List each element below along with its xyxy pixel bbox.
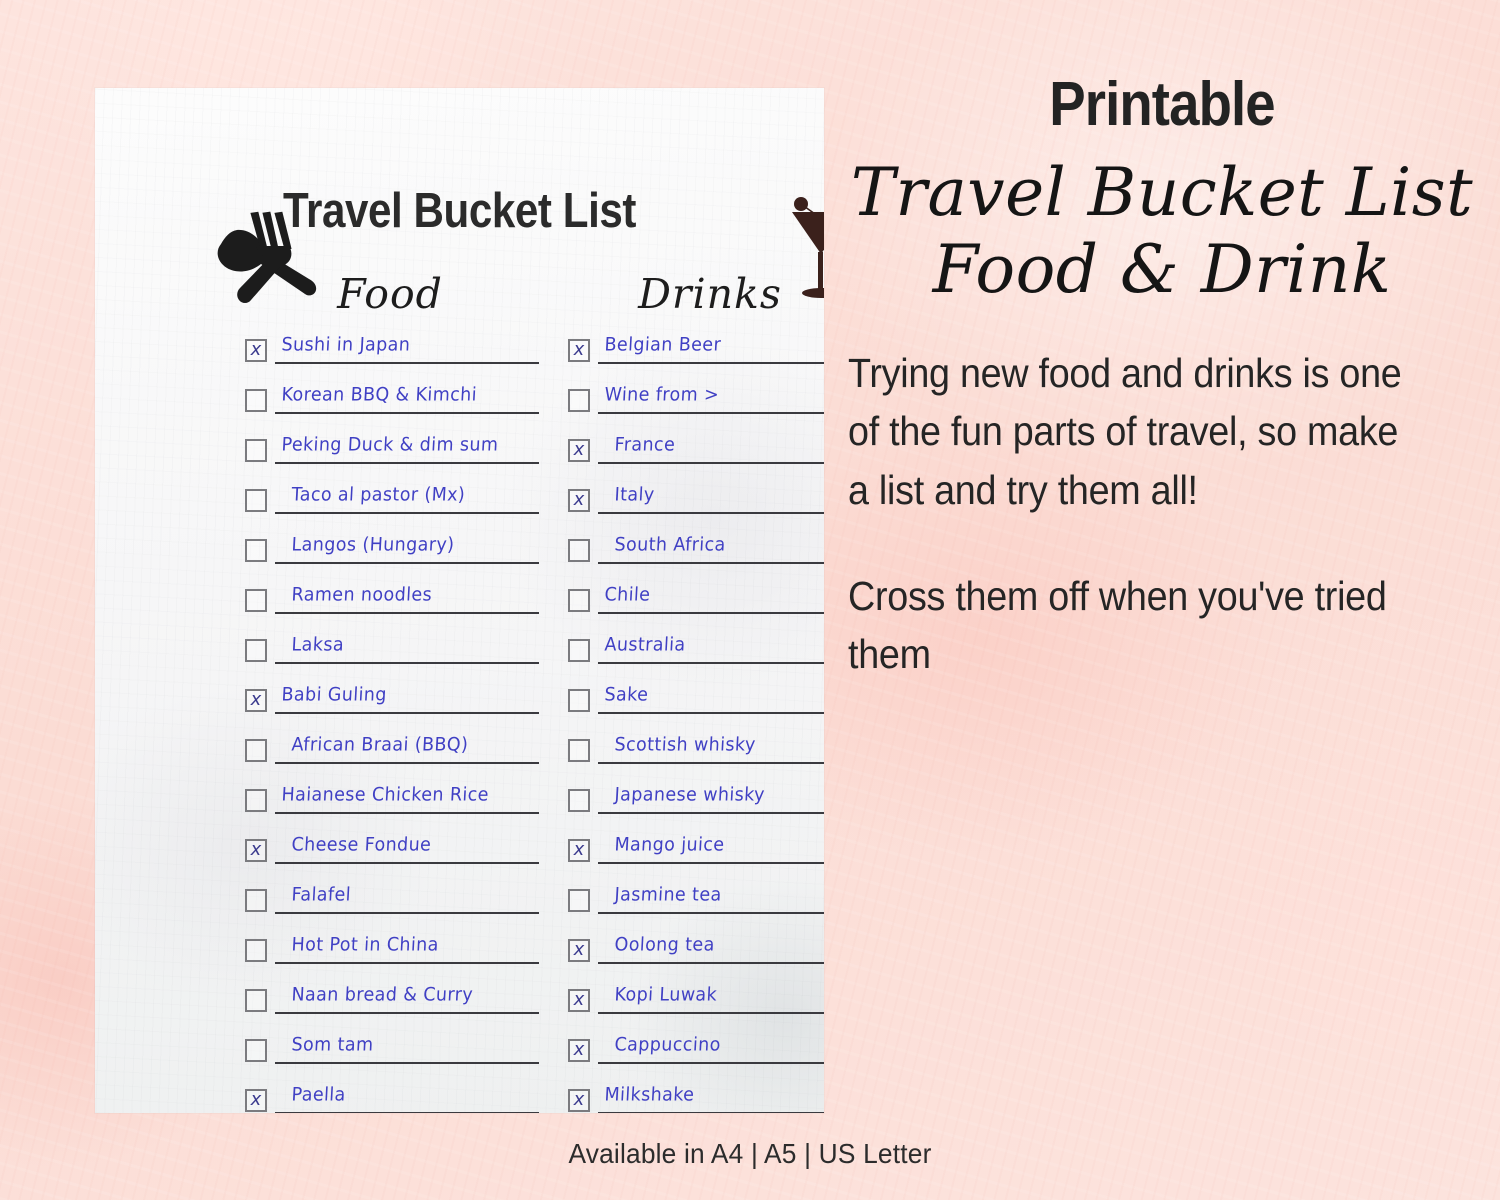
write-in-line — [598, 362, 824, 364]
list-item[interactable]: Wine from > — [568, 386, 824, 436]
write-in-line — [275, 912, 539, 914]
list-item-label: Milkshake — [604, 1085, 695, 1106]
list-item-label: Paella — [291, 1085, 346, 1106]
list-item-label: Oolong tea — [614, 935, 715, 956]
checkbox-unchecked[interactable] — [245, 489, 267, 512]
list-item[interactable]: Chile — [568, 586, 824, 636]
checklist-food: xSushi in JapanKorean BBQ & KimchiPeking… — [245, 336, 535, 1113]
write-in-line — [598, 1112, 824, 1113]
list-item[interactable]: Peking Duck & dim sum — [245, 436, 535, 486]
checkbox-unchecked[interactable] — [245, 639, 267, 662]
write-in-line — [598, 512, 824, 514]
list-item[interactable]: Ramen noodles — [245, 586, 535, 636]
list-item-label: Sushi in Japan — [281, 335, 411, 356]
checkbox-checked[interactable]: x — [245, 839, 267, 862]
list-item[interactable]: xOolong tea — [568, 936, 824, 986]
list-item-label: Belgian Beer — [604, 335, 722, 356]
list-item-label: Haianese Chicken Rice — [281, 785, 489, 806]
list-item-label: Mango juice — [614, 835, 725, 856]
check-x-icon: x — [570, 339, 588, 361]
list-item-label: Chile — [604, 585, 651, 606]
list-item[interactable]: xMango juice — [568, 836, 824, 886]
write-in-line — [275, 362, 539, 364]
checkbox-checked[interactable]: x — [568, 839, 590, 862]
list-item[interactable]: Hot Pot in China — [245, 936, 535, 986]
check-x-icon: x — [570, 839, 588, 861]
list-item[interactable]: African Braai (BBQ) — [245, 736, 535, 786]
list-item-label: Kopi Luwak — [614, 985, 718, 1006]
checkbox-unchecked[interactable] — [568, 889, 590, 912]
list-item[interactable]: xPaella — [245, 1086, 535, 1113]
write-in-line — [598, 1012, 824, 1014]
available-formats-note: Available in A4 | A5 | US Letter — [45, 1138, 1455, 1170]
promo-panel: Printable Travel Bucket List Food & Drin… — [848, 72, 1476, 683]
list-item[interactable]: Naan bread & Curry — [245, 986, 535, 1036]
list-item[interactable]: Som tam — [245, 1036, 535, 1086]
checkbox-checked[interactable]: x — [245, 339, 267, 362]
list-item-label: Sake — [604, 685, 649, 706]
write-in-line — [598, 662, 824, 664]
promo-script-line-2: Food & Drink — [848, 230, 1476, 311]
write-in-line — [275, 762, 539, 764]
check-x-icon: x — [570, 1039, 588, 1061]
list-item-label: Naan bread & Curry — [291, 985, 474, 1006]
write-in-line — [275, 512, 539, 514]
check-x-icon: x — [570, 439, 588, 461]
checkbox-unchecked[interactable] — [245, 989, 267, 1012]
checklist-drinks: xBelgian BeerWine from >xFrancexItalySou… — [568, 336, 824, 1113]
checkbox-unchecked[interactable] — [245, 539, 267, 562]
printable-sheet: Travel Bucket List Food Drinks xSushi in… — [95, 88, 824, 1113]
list-item[interactable]: South Africa — [568, 536, 824, 586]
promo-printable-label: Printable — [886, 72, 1439, 137]
list-item-label: Jasmine tea — [614, 885, 722, 906]
list-item-label: Langos (Hungary) — [291, 535, 455, 556]
write-in-line — [598, 862, 824, 864]
list-item[interactable]: xFrance — [568, 436, 824, 486]
checkbox-unchecked[interactable] — [245, 889, 267, 912]
write-in-line — [598, 1062, 824, 1064]
list-item[interactable]: xKopi Luwak — [568, 986, 824, 1036]
checkbox-unchecked[interactable] — [245, 789, 267, 812]
checkbox-unchecked[interactable] — [568, 639, 590, 662]
write-in-line — [598, 912, 824, 914]
list-item-label: Taco al pastor (Mx) — [291, 485, 466, 506]
list-item[interactable]: Falafel — [245, 886, 535, 936]
write-in-line — [275, 662, 539, 664]
list-item[interactable]: xBelgian Beer — [568, 336, 824, 386]
list-item-label: South Africa — [614, 535, 726, 556]
list-item[interactable]: Laksa — [245, 636, 535, 686]
write-in-line — [275, 612, 539, 614]
check-x-icon: x — [570, 989, 588, 1011]
write-in-line — [598, 962, 824, 964]
list-item[interactable]: Scottish whisky — [568, 736, 824, 786]
list-item[interactable]: Langos (Hungary) — [245, 536, 535, 586]
check-x-icon: x — [247, 1089, 265, 1111]
write-in-line — [598, 712, 824, 714]
write-in-line — [598, 762, 824, 764]
list-item[interactable]: Haianese Chicken Rice — [245, 786, 535, 836]
checkbox-unchecked[interactable] — [568, 539, 590, 562]
checkbox-unchecked[interactable] — [568, 739, 590, 762]
list-item[interactable]: Japanese whisky — [568, 786, 824, 836]
write-in-line — [598, 462, 824, 464]
checkbox-unchecked[interactable] — [568, 689, 590, 712]
list-item-label: Wine from > — [604, 385, 720, 406]
checkbox-unchecked[interactable] — [568, 589, 590, 612]
list-item-label: Peking Duck & dim sum — [281, 435, 499, 456]
list-item-label: Ramen noodles — [291, 585, 433, 606]
list-item-label: Laksa — [291, 635, 345, 656]
write-in-line — [275, 1012, 539, 1014]
check-x-icon: x — [247, 689, 265, 711]
write-in-line — [275, 962, 539, 964]
write-in-line — [598, 412, 824, 414]
checkbox-checked[interactable]: x — [568, 1039, 590, 1062]
list-item-label: France — [614, 435, 676, 456]
page-title: Travel Bucket List — [146, 183, 773, 239]
checkbox-checked[interactable]: x — [245, 1089, 267, 1112]
check-x-icon: x — [247, 339, 265, 361]
list-item[interactable]: Australia — [568, 636, 824, 686]
checkbox-checked[interactable]: x — [568, 439, 590, 462]
list-item-label: Falafel — [291, 885, 351, 906]
checkbox-unchecked[interactable] — [568, 789, 590, 812]
promo-instruction: Cross them off when you've tried them — [848, 567, 1426, 683]
check-x-icon: x — [247, 839, 265, 861]
list-item[interactable]: xSushi in Japan — [245, 336, 535, 386]
checkbox-checked[interactable]: x — [568, 939, 590, 962]
checkbox-unchecked[interactable] — [245, 589, 267, 612]
list-item[interactable]: Korean BBQ & Kimchi — [245, 386, 535, 436]
write-in-line — [275, 1112, 539, 1113]
list-item-label: Korean BBQ & Kimchi — [281, 385, 478, 406]
checkbox-unchecked[interactable] — [245, 439, 267, 462]
check-x-icon: x — [570, 939, 588, 961]
list-item-label: Cheese Fondue — [291, 835, 432, 856]
list-item[interactable]: xBabi Guling — [245, 686, 535, 736]
list-item-label: African Braai (BBQ) — [291, 735, 469, 756]
column-heading-food: Food — [245, 270, 535, 318]
check-x-icon: x — [570, 489, 588, 511]
checkbox-checked[interactable]: x — [245, 689, 267, 712]
checkbox-unchecked[interactable] — [245, 939, 267, 962]
write-in-line — [275, 712, 539, 714]
list-item[interactable]: Sake — [568, 686, 824, 736]
write-in-line — [275, 562, 539, 564]
write-in-line — [598, 812, 824, 814]
list-item-label: Australia — [604, 635, 686, 656]
list-item[interactable]: xMilkshake — [568, 1086, 824, 1113]
list-item-label: Japanese whisky — [614, 785, 765, 806]
write-in-line — [275, 812, 539, 814]
list-item-label: Som tam — [291, 1035, 374, 1056]
checkbox-unchecked[interactable] — [245, 739, 267, 762]
checkbox-checked[interactable]: x — [568, 489, 590, 512]
list-item[interactable]: Jasmine tea — [568, 886, 824, 936]
column-heading-drinks: Drinks — [565, 270, 824, 318]
checkbox-checked[interactable]: x — [568, 339, 590, 362]
write-in-line — [598, 612, 824, 614]
check-x-icon: x — [570, 1089, 588, 1111]
list-item[interactable]: xCheese Fondue — [245, 836, 535, 886]
write-in-line — [275, 412, 539, 414]
promo-script-line-1: Travel Bucket List — [848, 153, 1476, 234]
write-in-line — [275, 1062, 539, 1064]
promo-description: Trying new food and drinks is one of the… — [848, 344, 1426, 519]
list-item-label: Cappuccino — [614, 1035, 721, 1056]
list-item-label: Scottish whisky — [614, 735, 756, 756]
write-in-line — [275, 862, 539, 864]
checkbox-unchecked[interactable] — [568, 389, 590, 412]
list-item[interactable]: xCappuccino — [568, 1036, 824, 1086]
list-item-label: Babi Guling — [281, 685, 387, 706]
list-item[interactable]: xItaly — [568, 486, 824, 536]
write-in-line — [598, 562, 824, 564]
write-in-line — [275, 462, 539, 464]
checkbox-checked[interactable]: x — [568, 989, 590, 1012]
list-item-label: Hot Pot in China — [291, 935, 439, 956]
checkbox-unchecked[interactable] — [245, 389, 267, 412]
checkbox-checked[interactable]: x — [568, 1089, 590, 1112]
list-item-label: Italy — [614, 485, 655, 506]
list-item[interactable]: Taco al pastor (Mx) — [245, 486, 535, 536]
checkbox-unchecked[interactable] — [245, 1039, 267, 1062]
